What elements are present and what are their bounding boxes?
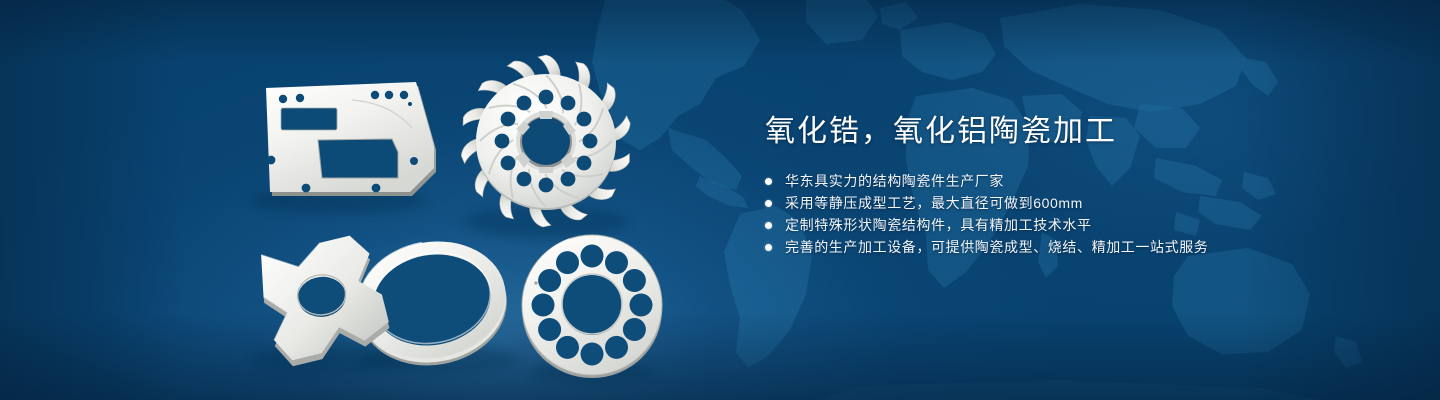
bullet-dot-icon — [765, 244, 772, 251]
feature-list: 华东具实力的结构陶瓷件生产厂家 采用等静压成型工艺，最大直径可做到600mm 定… — [765, 170, 1365, 258]
ceramic-perforated-disc-graphic — [522, 235, 662, 378]
list-item-label: 完善的生产加工设备，可提供陶瓷成型、烧结、精加工一站式服务 — [785, 236, 1208, 258]
list-item-label: 采用等静压成型工艺，最大直径可做到600mm — [785, 192, 1083, 214]
ceramic-cross-graphic — [258, 232, 392, 368]
bullet-dot-icon — [765, 178, 772, 185]
list-item-label: 定制特殊形状陶瓷结构件，具有精加工技术水平 — [785, 214, 1092, 236]
hero-banner: 氧化锆，氧化铝陶瓷加工 华东具实力的结构陶瓷件生产厂家 采用等静压成型工艺，最大… — [0, 0, 1440, 400]
bullet-dot-icon — [765, 200, 772, 207]
list-item-label: 华东具实力的结构陶瓷件生产厂家 — [785, 170, 1004, 192]
list-item: 华东具实力的结构陶瓷件生产厂家 — [765, 170, 1365, 192]
product-images-group — [0, 0, 760, 400]
list-item: 定制特殊形状陶瓷结构件，具有精加工技术水平 — [765, 214, 1365, 236]
page-title: 氧化锆，氧化铝陶瓷加工 — [765, 112, 1365, 152]
bullet-dot-icon — [765, 222, 772, 229]
ceramic-impeller-graphic — [459, 55, 633, 227]
list-item: 完善的生产加工设备，可提供陶瓷成型、烧结、精加工一站式服务 — [765, 236, 1365, 258]
ceramic-plate-graphic — [266, 82, 436, 196]
list-item: 采用等静压成型工艺，最大直径可做到600mm — [765, 192, 1365, 214]
banner-copy: 氧化锆，氧化铝陶瓷加工 华东具实力的结构陶瓷件生产厂家 采用等静压成型工艺，最大… — [765, 112, 1365, 258]
